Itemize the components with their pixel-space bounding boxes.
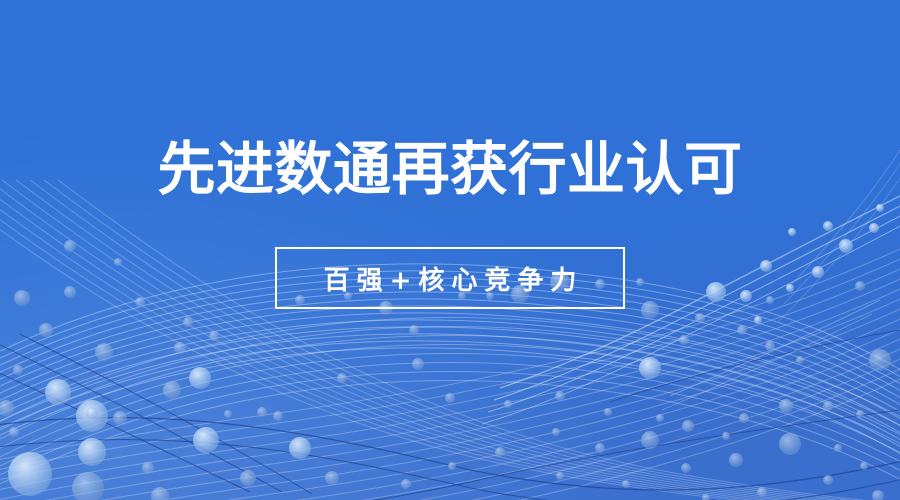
page-title: 先进数通再获行业认可 (157, 139, 742, 200)
subtitle-badge: 百强+核心竞争力 (275, 247, 625, 309)
subtitle-badge-label: 百强+核心竞争力 (317, 260, 584, 297)
promo-banner: 先进数通再获行业认可 百强+核心竞争力 (0, 0, 900, 500)
banner-content: 先进数通再获行业认可 百强+核心竞争力 (0, 0, 900, 500)
